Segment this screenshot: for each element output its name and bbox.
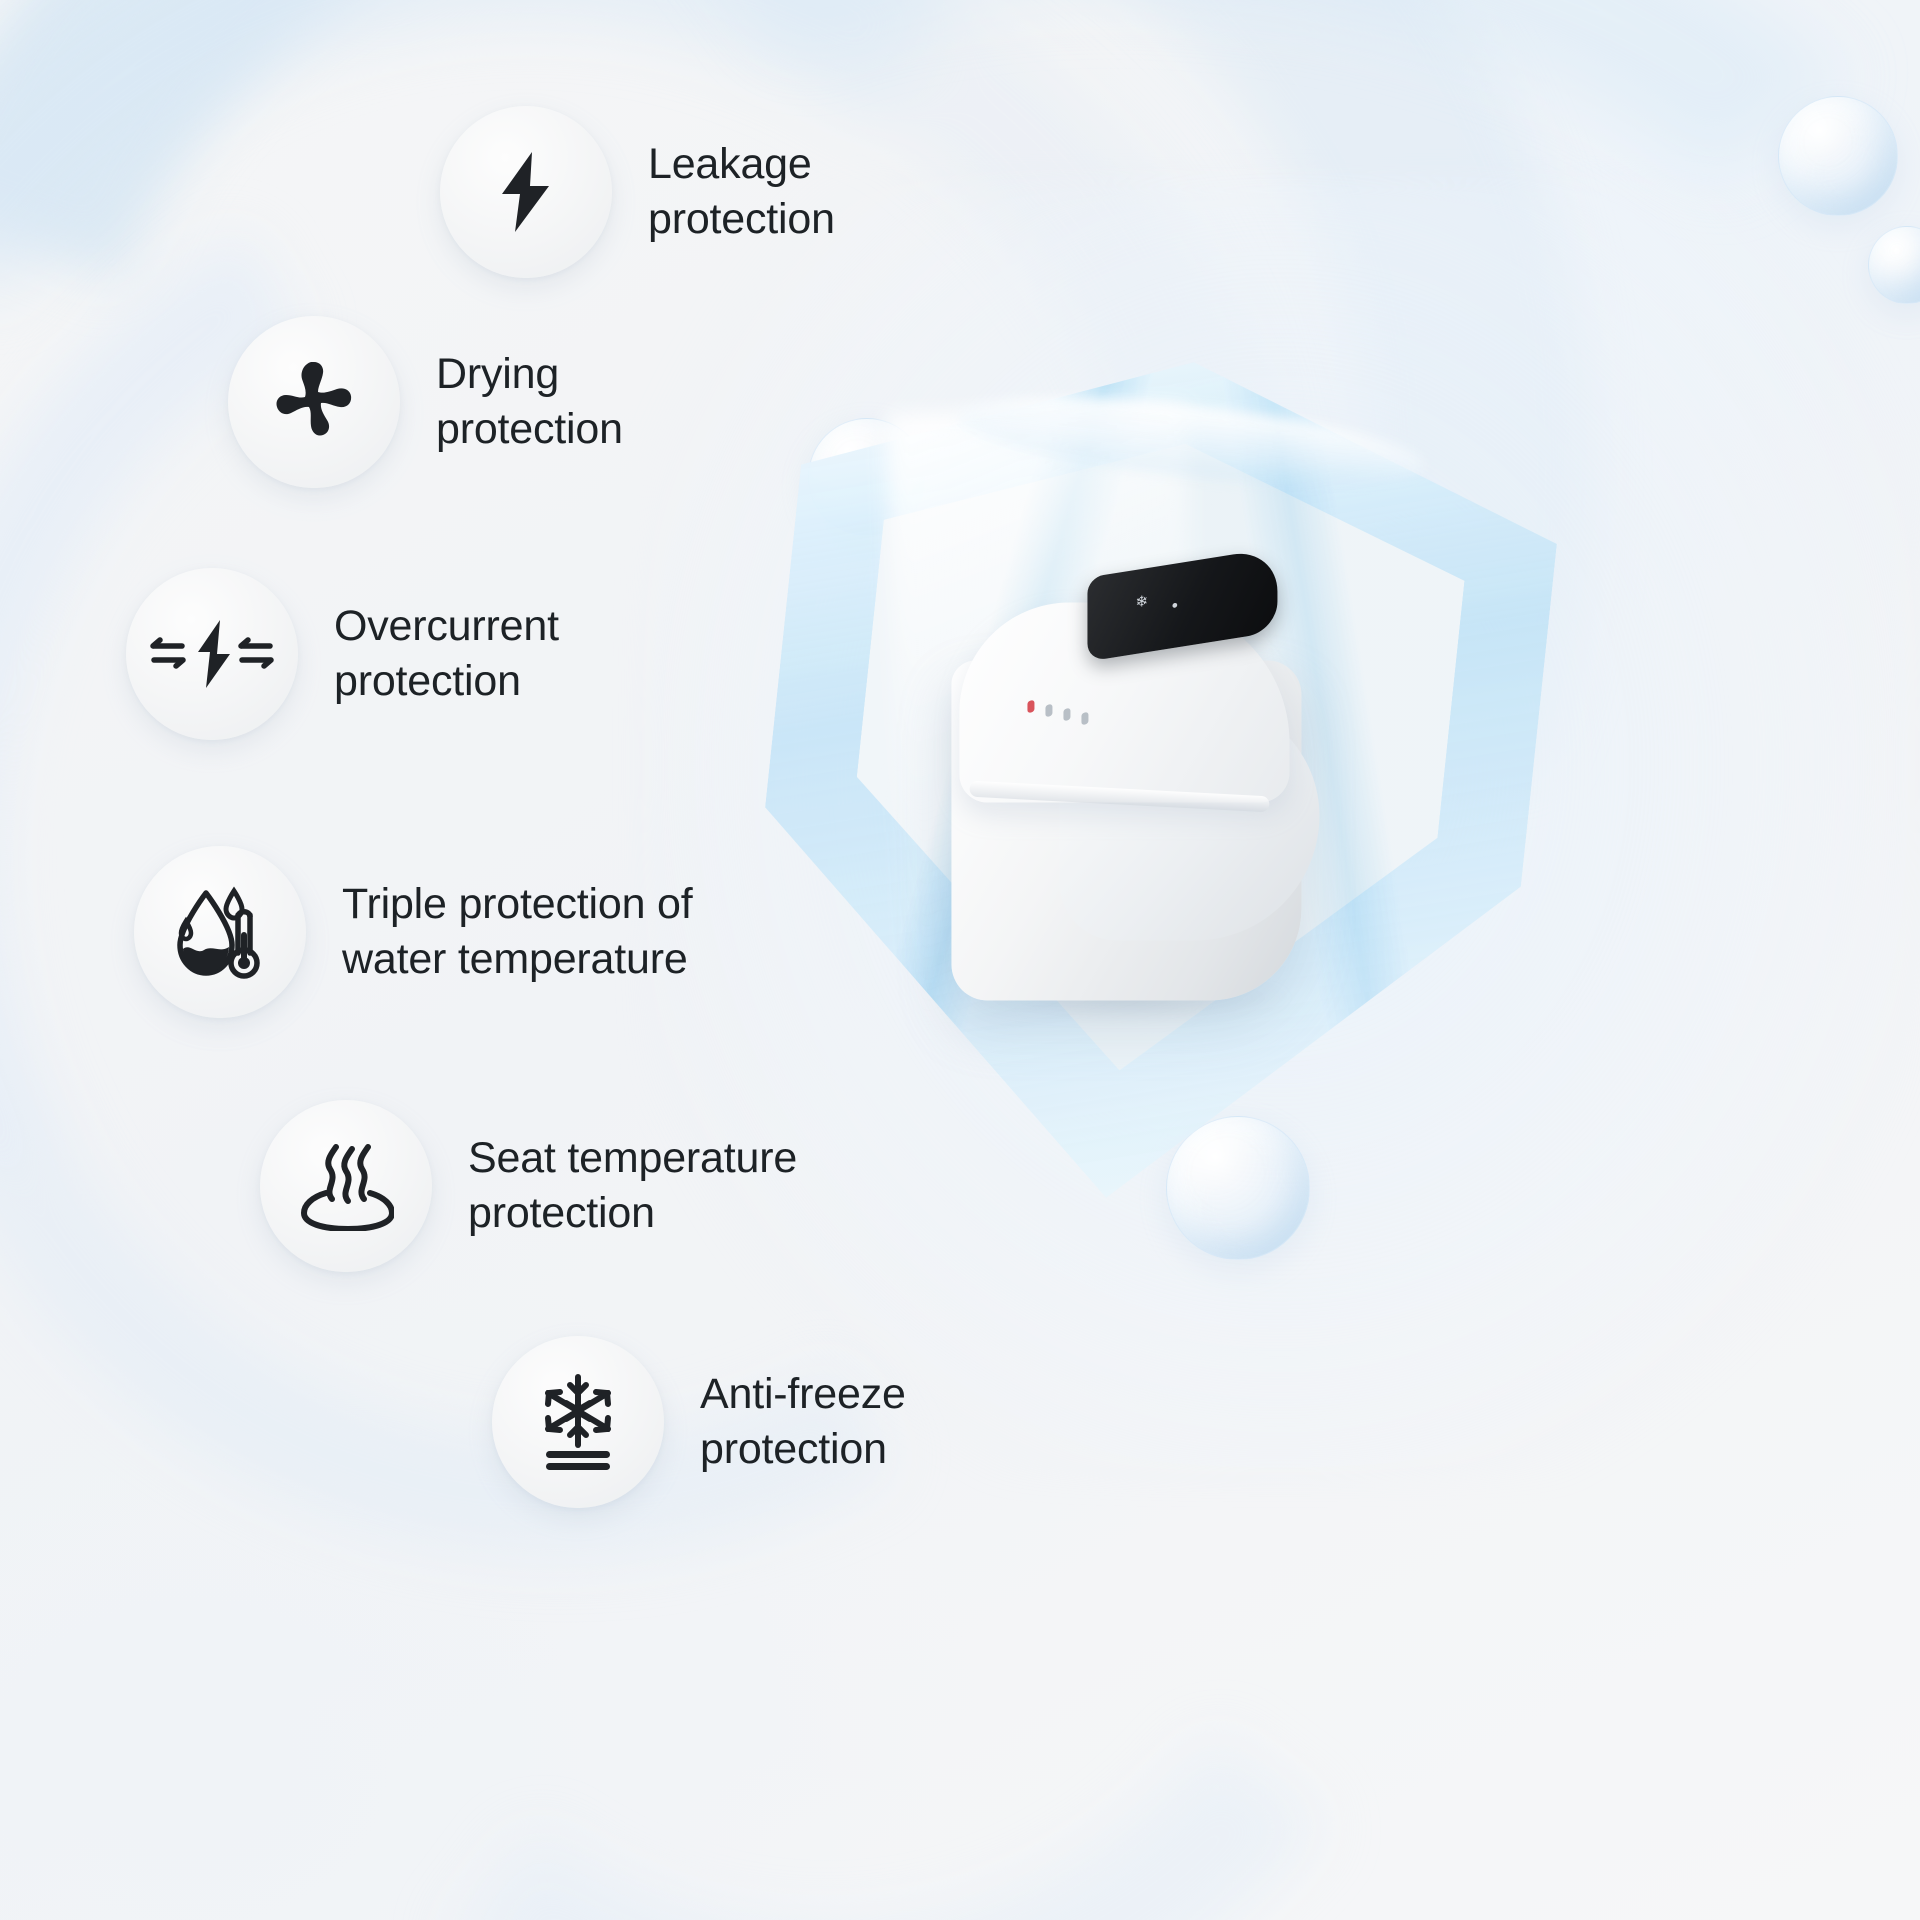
feature-label: Seat temperature protection: [468, 1131, 797, 1241]
water-droplet-thermometer-icon: [172, 883, 268, 981]
feature-label: Anti-freeze protection: [700, 1367, 906, 1477]
feature-icon-badge: [126, 568, 298, 740]
feature-item-water-temperature[interactable]: Triple protection of water temperature: [134, 846, 693, 1018]
feature-icon-badge: [134, 846, 306, 1018]
feature-icon-badge: [492, 1336, 664, 1508]
feature-label: Drying protection: [436, 347, 623, 457]
feature-icon-badge: [440, 106, 612, 278]
feature-list: Leakage protection Drying protection: [0, 0, 1920, 1920]
snowflake-icon: [532, 1373, 624, 1471]
feature-label: Triple protection of water temperature: [342, 877, 693, 987]
lightning-bolt-icon: [489, 150, 563, 234]
infographic-canvas: ❄ ● Leakage protection: [0, 0, 1920, 1920]
feature-item-seat-temperature[interactable]: Seat temperature protection: [260, 1100, 797, 1272]
feature-item-leakage[interactable]: Leakage protection: [440, 106, 835, 278]
feature-label: Overcurrent protection: [334, 599, 559, 709]
feature-icon-badge: [228, 316, 400, 488]
feature-item-anti-freeze[interactable]: Anti-freeze protection: [492, 1336, 906, 1508]
overcurrent-icon: [148, 616, 276, 692]
heat-steam-icon: [298, 1141, 394, 1231]
feature-item-overcurrent[interactable]: Overcurrent protection: [126, 568, 559, 740]
drying-fan-icon: [268, 358, 360, 446]
feature-item-drying[interactable]: Drying protection: [228, 316, 623, 488]
feature-label: Leakage protection: [648, 137, 835, 247]
feature-icon-badge: [260, 1100, 432, 1272]
